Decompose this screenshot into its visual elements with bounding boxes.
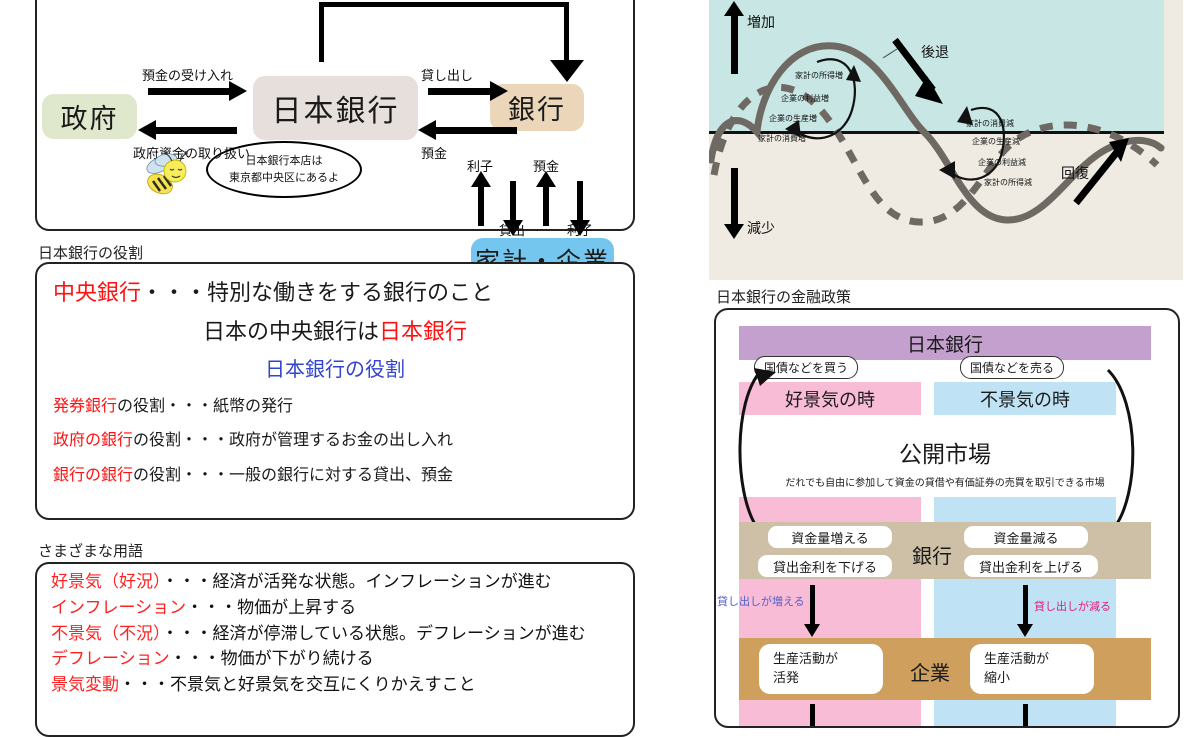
- label-loan-out: 貸出: [499, 220, 525, 239]
- term-1-rest: ・・・物価が上昇する: [186, 598, 356, 617]
- node-government: 政府: [42, 94, 137, 139]
- mp-firm-left-line2: 活発: [773, 669, 799, 688]
- role-line-1-rest: ・・・特別な働きをする銀行のこと: [141, 280, 493, 305]
- label-deposit-accept: 預金の受け入れ: [142, 65, 233, 84]
- mp-firm-right: 生産活動が 縮小: [970, 644, 1094, 694]
- mp-firm-row-label: 企業: [910, 657, 950, 686]
- mp-bank-right-funds: 資金量減る: [964, 526, 1088, 548]
- role-line-japan-central-bank: 日本の中央銀行は日本銀行: [53, 319, 617, 344]
- role-item-issuing-bank: 発券銀行の役割・・・紙幣の発行: [53, 398, 617, 416]
- mp-bank-left-funds: 資金量増える: [768, 526, 892, 548]
- bust-chain-2: 企業の利益減: [978, 157, 1026, 168]
- term-3-rest: ・・・物価が下がり続ける: [170, 649, 374, 668]
- bust-chain-0: 家計の消費減: [966, 118, 1014, 129]
- label-deposit-boj: 預金: [421, 143, 447, 162]
- mp-label-lending-increase: 貸し出しが増える: [717, 593, 805, 609]
- arrow-boj-to-gov: [155, 127, 237, 134]
- mp-bank-right-rate: 貸出金利を上げる: [964, 555, 1098, 577]
- label-recovery: 回復: [1061, 163, 1089, 183]
- boj-location-speech-bubble: 日本銀行本店は 東京都中央区にあるよ: [206, 141, 362, 198]
- boj-to-bank-bracket-right: [564, 2, 569, 64]
- label-recession: 後退: [921, 42, 949, 62]
- arrow-gov-to-boj: [148, 88, 230, 95]
- role-subheading: 日本銀行の役割: [53, 359, 617, 382]
- boom-chain-3: 家計の消費増: [758, 133, 806, 144]
- role-item-1-key: 政府の銀行: [53, 432, 133, 449]
- term-2-key: 不景気（不況）: [51, 624, 162, 643]
- node-bank-of-japan: 日本銀行: [253, 76, 418, 140]
- bust-chain-1: 企業の生産減: [972, 136, 1020, 147]
- mp-firm-right-line2: 縮小: [984, 669, 1010, 688]
- arrow-bank-to-boj: [435, 127, 517, 134]
- mp-arrow-firm-down-right: [1023, 704, 1028, 728]
- money-flow-diagram: 政府 日本銀行 銀行 家計・企業 預金の受け入れ 政府資金の取り扱い 貸し出し …: [35, 0, 635, 231]
- role-item-1-rest: の役割・・・政府が管理するお金の出し入れ: [133, 432, 453, 449]
- terms-section-panel: 好景気（好況）・・・経済が活発な状態。インフレーションが進む インフレーション・…: [35, 562, 635, 737]
- role-line-central-bank: 中央銀行・・・特別な働きをする銀行のこと: [53, 280, 617, 305]
- label-deposit-to-bank: 預金: [533, 156, 559, 175]
- terms-section-title: さまざまな用語: [38, 540, 143, 561]
- role-item-0-rest: の役割・・・紙幣の発行: [117, 398, 293, 415]
- role-item-0-key: 発券銀行: [53, 398, 117, 415]
- mp-firm-left-line1: 生産活動が: [773, 650, 838, 669]
- monetary-policy-panel: 日本銀行 国債などを買う 国債などを売る 好景気の時 不景気の時 公開市場 だれ…: [714, 308, 1180, 728]
- bubble-line-1: 日本銀行本店は: [246, 153, 323, 170]
- role-item-2-key: 銀行の銀行: [53, 467, 133, 484]
- role-section-title: 日本銀行の役割: [38, 242, 143, 263]
- term-row-0: 好景気（好況）・・・経済が活発な状態。インフレーションが進む: [51, 569, 619, 595]
- label-interest-to-bank: 利子: [567, 220, 593, 239]
- mp-arrow-firm-down-left: [810, 704, 815, 728]
- mp-bank-left-rate: 貸出金利を下げる: [758, 555, 892, 577]
- node-bank-label: 銀行: [508, 88, 566, 127]
- boom-chain-2: 企業の生産増: [769, 113, 817, 124]
- role-item-bankers-bank: 銀行の銀行の役割・・・一般の銀行に対する貸出、預金: [53, 467, 617, 485]
- role-line-2-prefix: 日本の中央銀行は: [203, 319, 379, 344]
- arrow-boj-to-bank: [428, 88, 491, 95]
- arrow-deposit-up: [543, 186, 549, 226]
- boj-to-bank-arrowhead: [550, 60, 584, 82]
- term-row-2: 不景気（不況）・・・経済が停滞している状態。デフレーションが進む: [51, 621, 619, 647]
- arrow-loan-down: [510, 181, 516, 221]
- axis-label-decrease: 減少: [747, 218, 775, 238]
- node-bank-of-japan-label: 日本銀行: [272, 86, 400, 130]
- mp-firm-left: 生産活動が 活発: [759, 644, 883, 694]
- term-row-1: インフレーション・・・物価が上昇する: [51, 595, 619, 621]
- label-interest-from-bank: 利子: [467, 156, 493, 175]
- mp-bank-row-label: 銀行: [912, 540, 952, 569]
- mp-label-lending-decrease: 貸し出しが減る: [1034, 598, 1111, 614]
- role-item-2-rest: の役割・・・一般の銀行に対する貸出、預金: [133, 467, 453, 484]
- axis-arrow-down: [731, 168, 738, 226]
- term-4-rest: ・・・不景気と好景気を交互にくりかえすこと: [119, 675, 476, 694]
- term-0-rest: ・・・経済が活発な状態。インフレーションが進む: [162, 572, 552, 591]
- term-4-key: 景気変動: [51, 675, 119, 694]
- role-item-government-bank: 政府の銀行の役割・・・政府が管理するお金の出し入れ: [53, 432, 617, 450]
- bust-chain-3: 家計の所得減: [984, 177, 1032, 188]
- label-lending: 貸し出し: [421, 65, 473, 84]
- term-0-key: 好景気（好況）: [51, 572, 162, 591]
- mp-arrow-bank-to-firm-right: [1023, 585, 1028, 625]
- arrow-interest-down: [577, 181, 583, 221]
- role-keyword-central-bank: 中央銀行: [53, 280, 141, 305]
- mp-firm-right-line1: 生産活動が: [984, 650, 1049, 669]
- arrow-interest-up: [478, 186, 484, 226]
- term-3-key: デフレーション: [51, 649, 170, 668]
- bee-icon: [142, 151, 194, 196]
- boj-to-bank-bracket-top: [319, 2, 569, 7]
- term-row-3: デフレーション・・・物価が下がり続ける: [51, 646, 619, 672]
- role-section-panel: 中央銀行・・・特別な働きをする銀行のこと 日本の中央銀行は日本銀行 日本銀行の役…: [35, 262, 635, 520]
- term-1-key: インフレーション: [51, 598, 186, 617]
- mp-col-pink-lower: [739, 700, 921, 728]
- bubble-line-2: 東京都中央区にあるよ: [229, 170, 339, 187]
- boom-chain-0: 家計の所得増: [795, 70, 843, 81]
- boj-to-bank-bracket-left: [319, 2, 324, 62]
- axis-label-increase: 増加: [747, 12, 775, 32]
- mp-arrow-bank-to-firm-left: [810, 585, 815, 625]
- role-keyword-boj: 日本銀行: [379, 319, 467, 344]
- boom-chain-1: 企業の利益増: [781, 93, 829, 104]
- business-cycle-diagram: 好景気（好況） 不景気（不況） 増加 減少 後退 回復 家計の所得増 企業の利益…: [709, 0, 1183, 280]
- term-row-4: 景気変動・・・不景気と好景気を交互にくりかえすこと: [51, 672, 619, 698]
- axis-arrow-up: [731, 14, 738, 74]
- term-2-rest: ・・・経済が停滞している状態。デフレーションが進む: [162, 624, 586, 643]
- node-government-label: 政府: [61, 97, 119, 136]
- monetary-policy-title: 日本銀行の金融政策: [716, 286, 851, 307]
